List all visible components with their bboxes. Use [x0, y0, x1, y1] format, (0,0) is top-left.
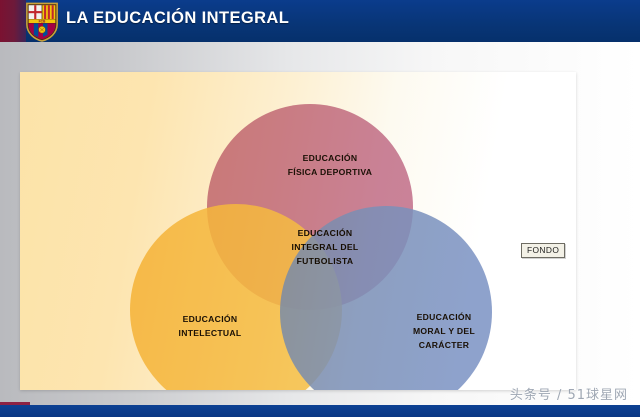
svg-text:FCB: FCB: [39, 19, 46, 23]
header-accent-stripe: [0, 0, 26, 42]
page-title: LA EDUCACIÓN INTEGRAL: [66, 9, 289, 28]
fcb-crest-logo: FCB: [24, 1, 60, 42]
svg-text:CARÁCTER: CARÁCTER: [419, 340, 470, 350]
bottom-bar: [0, 405, 640, 417]
venn-label-center: EDUCACIÓN INTEGRAL DEL FUTBOLISTA: [292, 227, 359, 266]
svg-text:FÍSICA DEPORTIVA: FÍSICA DEPORTIVA: [288, 167, 373, 177]
svg-text:FUTBOLISTA: FUTBOLISTA: [297, 256, 354, 266]
svg-text:INTELECTUAL: INTELECTUAL: [179, 328, 242, 338]
svg-text:EDUCACIÓN: EDUCACIÓN: [183, 313, 238, 324]
venn-label-moral: EDUCACIÓN MORAL Y DEL CARÁCTER: [413, 311, 475, 350]
svg-text:EDUCACIÓN: EDUCACIÓN: [303, 152, 358, 163]
svg-text:EDUCACIÓN: EDUCACIÓN: [298, 227, 353, 238]
svg-text:MORAL Y DEL: MORAL Y DEL: [413, 326, 475, 336]
slide-content-panel: EDUCACIÓN FÍSICA DEPORTIVA EDUCACIÓN INT…: [20, 72, 576, 390]
watermark-text: 头条号 / 51球星网: [510, 384, 628, 403]
svg-text:EDUCACIÓN: EDUCACIÓN: [417, 311, 472, 322]
venn-diagram: EDUCACIÓN FÍSICA DEPORTIVA EDUCACIÓN INT…: [20, 72, 576, 390]
fondo-callout-button[interactable]: FONDO: [521, 243, 565, 258]
slide-root: FCB LA EDUCACIÓN INTEGRAL: [0, 0, 640, 417]
svg-text:INTEGRAL DEL: INTEGRAL DEL: [292, 242, 359, 252]
header-bar: FCB LA EDUCACIÓN INTEGRAL: [0, 0, 640, 42]
